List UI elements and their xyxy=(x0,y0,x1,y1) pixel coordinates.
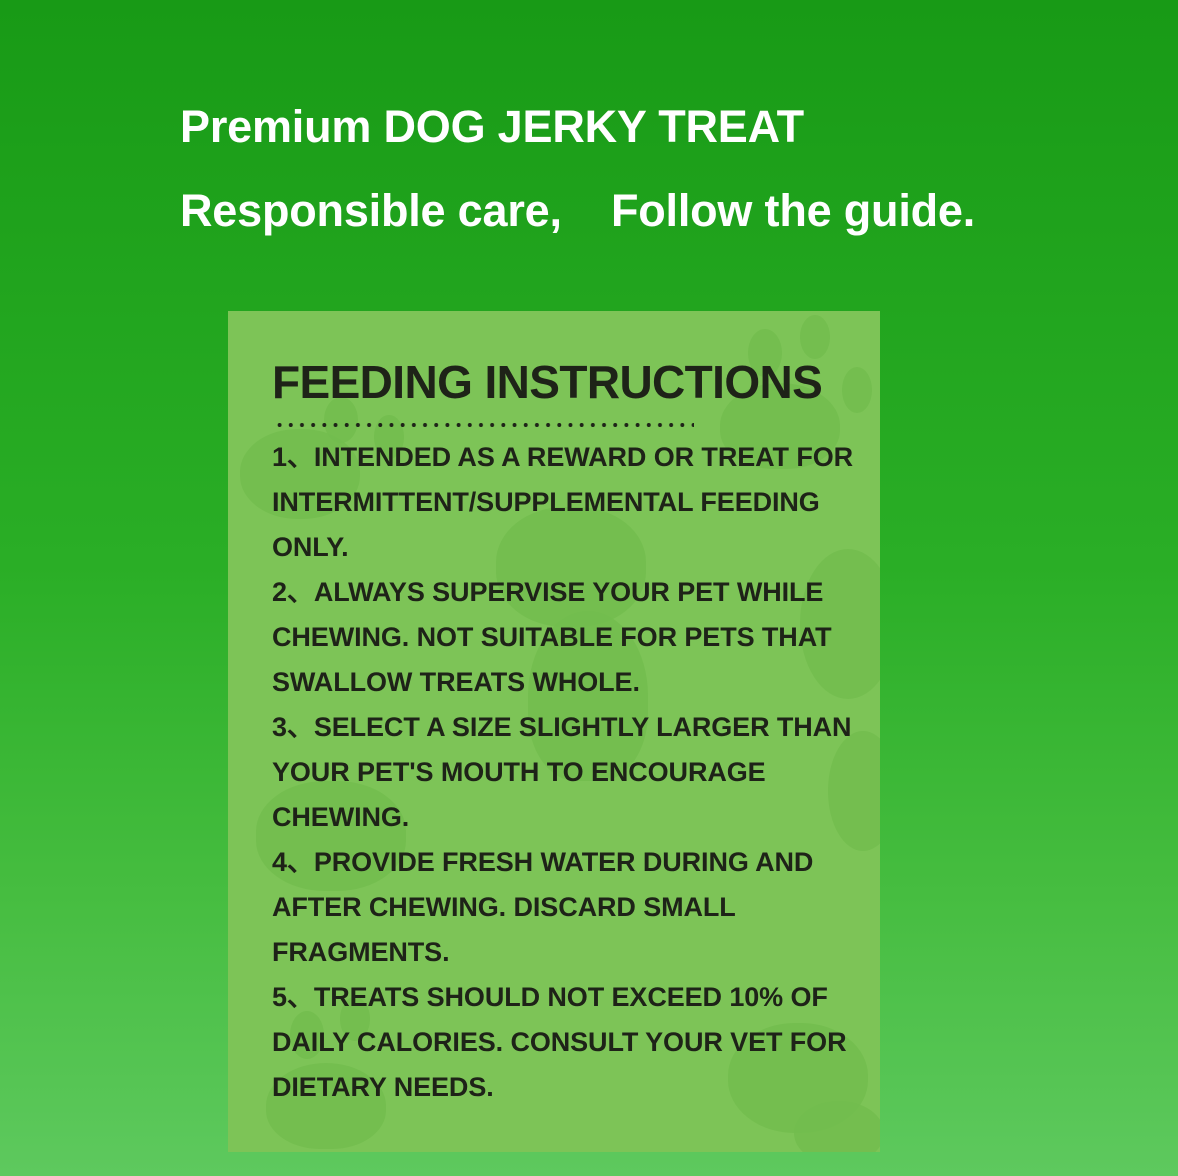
card-title: FEEDING INSTRUCTIONS xyxy=(272,359,880,405)
dotted-divider xyxy=(274,421,694,429)
instructions-list: 1、INTENDED AS A REWARD OR TREAT FOR INTE… xyxy=(272,435,880,1110)
poster-canvas: Premium DOG JERKY TREAT Responsible care… xyxy=(0,0,1178,1176)
list-item: 1、INTENDED AS A REWARD OR TREAT FOR INTE… xyxy=(272,435,880,570)
card-content: FEEDING INSTRUCTIONS 1、INTENDED AS A REW… xyxy=(228,311,880,1110)
feeding-instructions-card: FEEDING INSTRUCTIONS 1、INTENDED AS A REW… xyxy=(228,311,880,1152)
list-item: 2、ALWAYS SUPERVISE YOUR PET WHILE CHEWIN… xyxy=(272,570,880,705)
list-item: 3、SELECT A SIZE SLIGHTLY LARGER THAN YOU… xyxy=(272,705,880,840)
list-item: 4、PROVIDE FRESH WATER DURING AND AFTER C… xyxy=(272,840,880,975)
tagline-headline: Responsible care, Follow the guide. xyxy=(180,188,1080,233)
list-item: 5、TREATS SHOULD NOT EXCEED 10% OF DAILY … xyxy=(272,975,880,1110)
header-block: Premium DOG JERKY TREAT Responsible care… xyxy=(180,104,1080,233)
product-headline: Premium DOG JERKY TREAT xyxy=(180,104,1080,149)
